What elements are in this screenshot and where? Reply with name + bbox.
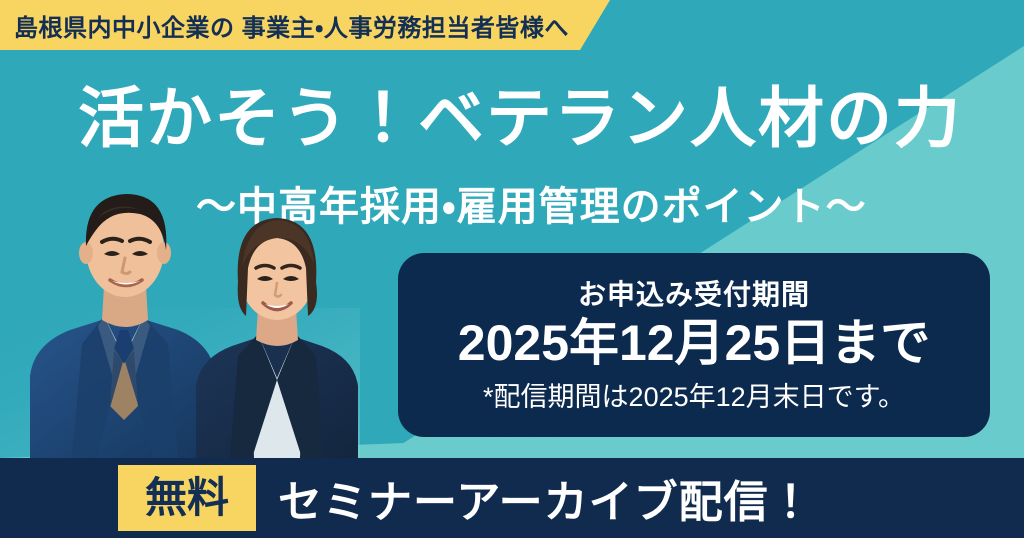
seminar-banner: 島根県内中小企業の 事業主・人事労務担当者皆様へ 活かそう！ベテラン人材の力 〜… bbox=[0, 0, 1024, 538]
bottom-bar: 無料 セミナーアーカイブ配信！ bbox=[0, 458, 1024, 538]
application-deadline-date: 2025年12月25日まで bbox=[458, 315, 930, 371]
top-ribbon: 島根県内中小企業の 事業主・人事労務担当者皆様へ bbox=[0, 0, 610, 50]
page-title: 活かそう！ベテラン人材の力 bbox=[78, 82, 962, 155]
application-period-card: お申込み受付期間 2025年12月25日まで *配信期間は2025年12月末日で… bbox=[398, 253, 990, 437]
application-period-label: お申込み受付期間 bbox=[578, 273, 810, 313]
bottom-bar-title: セミナーアーカイブ配信！ bbox=[278, 466, 814, 530]
free-badge-label: 無料 bbox=[145, 477, 229, 519]
top-ribbon-text: 島根県内中小企業の 事業主・人事労務担当者皆様へ bbox=[14, 8, 569, 43]
page-subtitle: 〜中高年採用・雇用管理のポイント〜 bbox=[196, 184, 867, 230]
delivery-period-note: *配信期間は2025年12月末日です。 bbox=[483, 375, 905, 414]
free-badge: 無料 bbox=[118, 465, 256, 531]
